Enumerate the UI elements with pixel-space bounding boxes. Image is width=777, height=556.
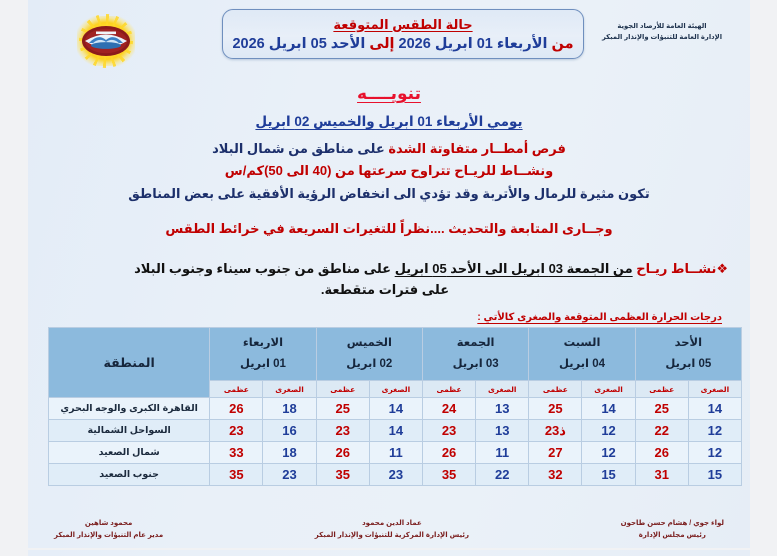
- table-caption: درجات الحرارة العظمى المتوقعة والصغرى كا…: [28, 312, 722, 323]
- cell-max: 23: [210, 420, 263, 442]
- temperature-table: الأحد 05 ابريل السبت 04 ابريل الجمعة 03 …: [48, 327, 742, 486]
- cell-max: 26: [422, 442, 475, 464]
- wind-advisory-areas: على مناطق من جنوب سيناء وجنوب البلاد: [134, 261, 391, 276]
- cell-max: 31: [635, 464, 688, 486]
- day-date-2: 03 ابريل: [424, 354, 527, 375]
- notice-line-4: وجــارى المتابعة والتحديث ....نظراً للتغ…: [28, 221, 750, 237]
- cell-min: 12: [688, 442, 741, 464]
- day-date-1: 04 ابريل: [530, 354, 633, 375]
- subheader-max-4: عظمى: [210, 381, 263, 398]
- notice-line-1-blue: على مناطق من شمال البلاد: [212, 141, 385, 156]
- day-name-2: الجمعة: [424, 333, 527, 354]
- signatory-name: لواء جوي / هشام حسن طاحون: [621, 518, 724, 530]
- day-name-0: الأحد: [637, 333, 740, 354]
- cell-max: 27: [529, 442, 582, 464]
- signature-block-general-manager: محمود شاهين مدير عام التنبؤات والإنذار ا…: [54, 518, 163, 542]
- table-row: 15 31 15 32 22 35 23 35 23 35 جنوب الصعي…: [49, 464, 742, 486]
- day-name-3: الخميس: [318, 333, 421, 354]
- notice-line-3: تكون مثيرة للرمال والأتربة وقد تؤدي الى …: [28, 186, 750, 202]
- cell-max: 26: [635, 442, 688, 464]
- signature-block-chairman: لواء جوي / هشام حسن طاحون رئيس مجلس الإد…: [621, 518, 724, 542]
- cell-min: 23: [369, 464, 422, 486]
- signatory-role: رئيس مجلس الإدارة: [621, 530, 724, 542]
- cell-min: 12: [688, 420, 741, 442]
- subheader-min-3: الصغرى: [369, 381, 422, 398]
- temperature-table-wrapper: الأحد 05 ابريل السبت 04 ابريل الجمعة 03 …: [48, 327, 742, 486]
- cell-min: 11: [369, 442, 422, 464]
- diamond-bullet-icon: ❖: [716, 261, 728, 276]
- page-title: حالة الطقس المتوقعة: [333, 17, 472, 33]
- signatory-name: محمود شاهين: [54, 518, 163, 530]
- footer-divider: [28, 548, 750, 550]
- cell-max: 35: [210, 464, 263, 486]
- cell-min: 18: [263, 442, 316, 464]
- authority-line-2: الإدارة العامة للتنبؤات والإنذار المبكر: [582, 33, 742, 44]
- cell-min: 13: [476, 398, 529, 420]
- notice-line-1-red: فرص أمطــار متفاوتة الشدة: [388, 141, 566, 156]
- cell-min: 12: [582, 442, 635, 464]
- cell-max: ذ23: [529, 420, 582, 442]
- subheader-max-0: عظمى: [635, 381, 688, 398]
- authority-name: الهيئة العامة للأرصاد الجوية الإدارة الع…: [582, 22, 742, 43]
- day-date-3: 02 ابريل: [318, 354, 421, 375]
- day-header-2: الجمعة 03 ابريل: [422, 328, 528, 381]
- cell-max: 25: [316, 398, 369, 420]
- day-name-4: الاربعاء: [211, 333, 314, 354]
- cell-max: 24: [422, 398, 475, 420]
- day-header-0: الأحد 05 ابريل: [635, 328, 741, 381]
- cell-min: 18: [263, 398, 316, 420]
- day-name-1: السبت: [530, 333, 633, 354]
- table-row: 14 25 14 25 13 24 14 25 18 26 القاهرة ال…: [49, 398, 742, 420]
- cell-max: 23: [422, 420, 475, 442]
- cell-min: 13: [476, 420, 529, 442]
- subheader-min-1: الصغرى: [582, 381, 635, 398]
- notice-heading: تنويــــه: [28, 84, 750, 104]
- period-end-date: الأحد 05 ابريل 2026: [232, 36, 365, 52]
- subheader-min-4: الصغرى: [263, 381, 316, 398]
- cell-region: القاهرة الكبرى والوجه البحري: [49, 398, 210, 420]
- cell-max: 33: [210, 442, 263, 464]
- notice-line-2: ونشــاط للريـاح تتراوح سرعتها من (40 الى…: [28, 163, 750, 179]
- cell-max: 32: [529, 464, 582, 486]
- cell-min: 14: [369, 420, 422, 442]
- day-header-3: الخميس 02 ابريل: [316, 328, 422, 381]
- table-row: 12 26 12 27 11 26 11 26 18 33 شمال الصعي…: [49, 442, 742, 464]
- title-box: حالة الطقس المتوقعة من الأربعاء 01 ابريل…: [222, 9, 584, 59]
- period-to-label: إلى: [369, 36, 394, 52]
- table-header-days: الأحد 05 ابريل السبت 04 ابريل الجمعة 03 …: [49, 328, 742, 381]
- subheader-min-2: الصغرى: [476, 381, 529, 398]
- cell-max: 23: [316, 420, 369, 442]
- authority-line-1: الهيئة العامة للأرصاد الجوية: [582, 22, 742, 33]
- day-header-1: السبت 04 ابريل: [529, 328, 635, 381]
- wind-advisory-line-2: على فترات متقطعة.: [42, 280, 728, 300]
- signatory-name: عماد الدين محمود: [315, 518, 469, 530]
- cell-min: 15: [688, 464, 741, 486]
- wind-advisory-lead: نشــاط ريـاح: [636, 261, 716, 276]
- signatory-role: مدير عام التنبؤات والإنذار المبكر: [54, 530, 163, 542]
- cell-max: 25: [635, 398, 688, 420]
- cell-min: 14: [369, 398, 422, 420]
- logo-emblem-icon: [81, 24, 131, 58]
- cell-max: 26: [210, 398, 263, 420]
- wind-advisory-dates: من الجمعة 03 ابريل الى الأحد 05 ابريل: [395, 261, 633, 276]
- cell-min: 12: [582, 420, 635, 442]
- subheader-min-0: الصغرى: [688, 381, 741, 398]
- day-header-4: الاربعاء 01 ابريل: [210, 328, 316, 381]
- subheader-max-3: عظمى: [316, 381, 369, 398]
- document-page: الهيئة العامة للأرصاد الجوية الإدارة الع…: [28, 0, 750, 556]
- notice-block: تنويــــه يومي الأربعاء 01 ابريل والخميس…: [28, 84, 750, 237]
- cell-max: 35: [316, 464, 369, 486]
- cell-region: السواحل الشمالية: [49, 420, 210, 442]
- cell-min: 14: [582, 398, 635, 420]
- cell-min: 15: [582, 464, 635, 486]
- region-column-header: المنطقة: [49, 328, 210, 398]
- notice-line-1: فرص أمطــار متفاوتة الشدة على مناطق من ش…: [28, 141, 750, 157]
- day-date-0: 05 ابريل: [637, 354, 740, 375]
- signature-footer: لواء جوي / هشام حسن طاحون رئيس مجلس الإد…: [28, 518, 750, 542]
- cell-max: 25: [529, 398, 582, 420]
- day-date-4: 01 ابريل: [211, 354, 314, 375]
- notice-days: يومي الأربعاء 01 ابريل والخميس 02 ابريل: [28, 114, 750, 130]
- wind-advisory: ❖نشــاط ريـاح من الجمعة 03 ابريل الى الأ…: [42, 259, 728, 299]
- cell-max: 26: [316, 442, 369, 464]
- document-header: الهيئة العامة للأرصاد الجوية الإدارة الع…: [28, 0, 750, 78]
- egyptian-meteorological-authority-logo: [77, 16, 135, 66]
- cell-min: 11: [476, 442, 529, 464]
- subheader-max-1: عظمى: [529, 381, 582, 398]
- subheader-max-2: عظمى: [422, 381, 475, 398]
- cell-region: شمال الصعيد: [49, 442, 210, 464]
- cell-min: 14: [688, 398, 741, 420]
- cell-region: جنوب الصعيد: [49, 464, 210, 486]
- signature-block-central-head: عماد الدين محمود رئيس الإدارة المركزية ل…: [315, 518, 469, 542]
- cell-min: 23: [263, 464, 316, 486]
- forecast-period: من الأربعاء 01 ابريل 2026 إلى الأحد 05 ا…: [232, 36, 573, 52]
- cell-max: 35: [422, 464, 475, 486]
- cell-min: 16: [263, 420, 316, 442]
- table-row: 12 22 12 ذ23 13 23 14 23 16 23 السواحل ا…: [49, 420, 742, 442]
- cell-min: 22: [476, 464, 529, 486]
- signatory-role: رئيس الإدارة المركزية للتنبؤات والإنذار …: [315, 530, 469, 542]
- period-start-date: الأربعاء 01 ابريل 2026: [399, 36, 548, 52]
- period-from-label: من: [552, 36, 574, 52]
- cell-max: 22: [635, 420, 688, 442]
